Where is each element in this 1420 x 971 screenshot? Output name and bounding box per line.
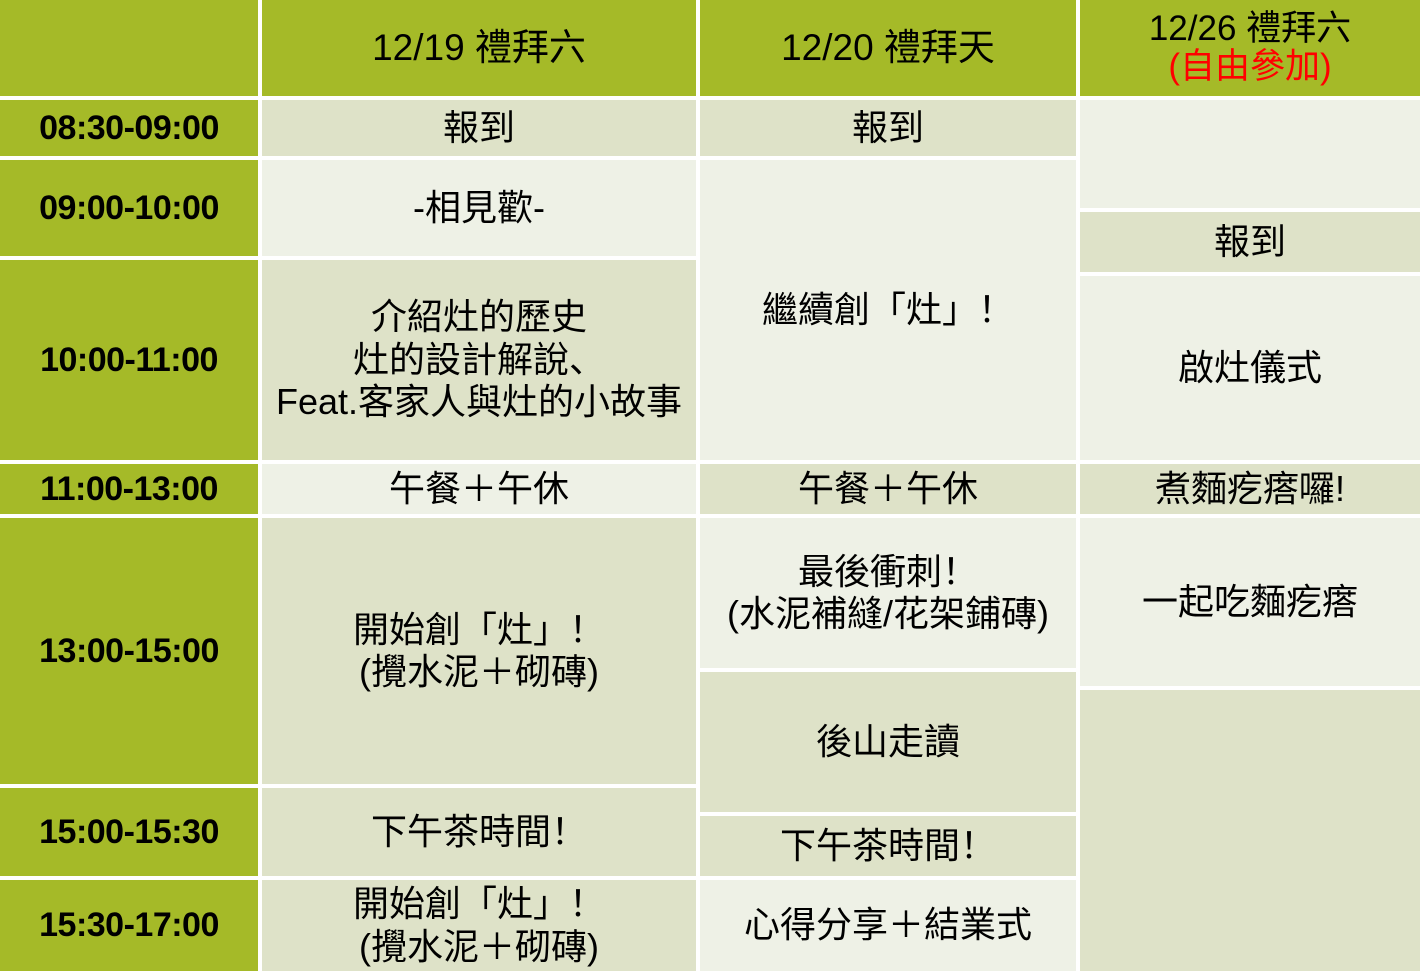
cell-1219-1100-text: 午餐＋午休 bbox=[266, 468, 692, 510]
cell-1219-1500-text: 下午茶時間！ bbox=[266, 811, 692, 853]
cell-1220-1500: 下午茶時間！ bbox=[700, 816, 1076, 876]
cell-1220-1530: 心得分享＋結業式 bbox=[700, 880, 1076, 971]
cell-1220-1300-sprint: 最後衝刺！ (水泥補縫/花架鋪磚) bbox=[700, 518, 1076, 668]
cell-1219-0900: -相見歡- bbox=[262, 160, 696, 256]
cell-1220-1300-hike-text: 後山走讀 bbox=[704, 721, 1072, 763]
time-slot-3-label: 11:00-13:00 bbox=[4, 469, 254, 509]
time-slot-5: 15:00-15:30 bbox=[0, 788, 258, 876]
cell-1226-cooking-text: 煮麵疙瘩囉! bbox=[1084, 468, 1416, 510]
schedule-table: 12/19 禮拜六 12/20 禮拜天 12/26 禮拜六 (自由參加) 08:… bbox=[0, 0, 1420, 971]
time-slot-2: 10:00-11:00 bbox=[0, 260, 258, 460]
time-slot-1-label: 09:00-10:00 bbox=[4, 188, 254, 228]
time-slot-0-label: 08:30-09:00 bbox=[4, 108, 254, 148]
cell-1226-eating-text: 一起吃麵疙瘩 bbox=[1084, 581, 1416, 623]
column-header-1226-label: 12/26 禮拜六 bbox=[1149, 9, 1351, 48]
cell-1226-ceremony-text: 啟灶儀式 bbox=[1084, 347, 1416, 389]
cell-1226-empty-bottom bbox=[1080, 690, 1420, 971]
cell-1219-0900-text: -相見歡- bbox=[266, 187, 692, 229]
column-header-1220[interactable]: 12/20 禮拜天 bbox=[700, 0, 1076, 96]
cell-1220-0830: 報到 bbox=[700, 100, 1076, 156]
time-slot-3: 11:00-13:00 bbox=[0, 464, 258, 514]
cell-1220-1500-text: 下午茶時間！ bbox=[704, 825, 1072, 867]
cell-1219-1000: 介紹灶的歷史 灶的設計解說、 Feat.客家人與灶的小故事 bbox=[262, 260, 696, 460]
cell-1219-1300: 開始創「灶」！ (攪水泥＋砌磚) bbox=[262, 518, 696, 784]
time-slot-4: 13:00-15:00 bbox=[0, 518, 258, 784]
cell-1220-1300-hike: 後山走讀 bbox=[700, 672, 1076, 812]
cell-1219-1100: 午餐＋午休 bbox=[262, 464, 696, 514]
column-header-1219-label: 12/19 禮拜六 bbox=[266, 26, 692, 70]
time-slot-6-label: 15:30-17:00 bbox=[4, 905, 254, 945]
cell-1219-1530-text: 開始創「灶」！ (攪水泥＋砌磚) bbox=[266, 883, 692, 968]
column-header-1226[interactable]: 12/26 禮拜六 (自由參加) bbox=[1080, 0, 1420, 96]
time-slot-0: 08:30-09:00 bbox=[0, 100, 258, 156]
cell-1220-0900-1100: 繼續創「灶」！ bbox=[700, 160, 1076, 460]
column-header-1219[interactable]: 12/19 禮拜六 bbox=[262, 0, 696, 96]
cell-1226-empty-top bbox=[1080, 100, 1420, 208]
cell-1219-1300-text: 開始創「灶」！ (攪水泥＋砌磚) bbox=[266, 609, 692, 694]
cell-1220-0900-1100-text: 繼續創「灶」！ bbox=[704, 289, 1072, 331]
cell-1220-1530-text: 心得分享＋結業式 bbox=[704, 904, 1072, 946]
cell-1226-checkin: 報到 bbox=[1080, 212, 1420, 272]
cell-1220-0830-text: 報到 bbox=[704, 107, 1072, 149]
cell-1219-1530: 開始創「灶」！ (攪水泥＋砌磚) bbox=[262, 880, 696, 971]
column-header-1226-wrap: 12/26 禮拜六 (自由參加) bbox=[1084, 0, 1416, 96]
cell-1226-cooking: 煮麵疙瘩囉! bbox=[1080, 464, 1420, 514]
cell-1219-1500: 下午茶時間！ bbox=[262, 788, 696, 876]
column-header-1226-note: (自由參加) bbox=[1084, 48, 1416, 86]
cell-1220-1100: 午餐＋午休 bbox=[700, 464, 1076, 514]
time-slot-5-label: 15:00-15:30 bbox=[4, 812, 254, 852]
cell-1220-1300-sprint-text: 最後衝刺！ (水泥補縫/花架鋪磚) bbox=[704, 551, 1072, 636]
cell-1226-checkin-text: 報到 bbox=[1084, 221, 1416, 263]
cell-1220-1100-text: 午餐＋午休 bbox=[704, 468, 1072, 510]
cell-1226-ceremony: 啟灶儀式 bbox=[1080, 276, 1420, 460]
time-slot-6: 15:30-17:00 bbox=[0, 880, 258, 971]
time-slot-2-label: 10:00-11:00 bbox=[4, 340, 254, 380]
cell-1219-0830-text: 報到 bbox=[266, 107, 692, 149]
time-slot-1: 09:00-10:00 bbox=[0, 160, 258, 256]
header-corner-cell bbox=[0, 0, 258, 96]
cell-1219-0830: 報到 bbox=[262, 100, 696, 156]
cell-1219-1000-text: 介紹灶的歷史 灶的設計解說、 Feat.客家人與灶的小故事 bbox=[266, 296, 692, 423]
cell-1226-eating: 一起吃麵疙瘩 bbox=[1080, 518, 1420, 686]
time-slot-4-label: 13:00-15:00 bbox=[4, 631, 254, 671]
column-header-1220-label: 12/20 禮拜天 bbox=[704, 26, 1072, 70]
